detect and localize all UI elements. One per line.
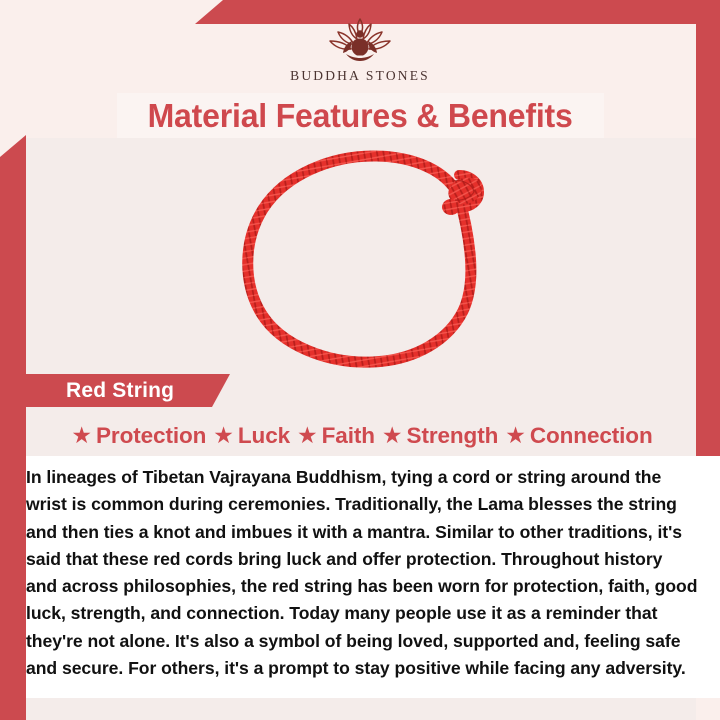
feature-label: Faith (322, 423, 375, 449)
star-icon: ★ (71, 424, 92, 447)
feature-item-faith: ★ Faith (297, 423, 375, 449)
feature-item-luck: ★ Luck (213, 423, 290, 449)
star-icon: ★ (297, 424, 318, 447)
brand-name: BUDDHA STONES (290, 68, 430, 84)
star-icon: ★ (382, 424, 403, 447)
product-label-ribbon: Red String (26, 374, 230, 407)
product-label-text: Red String (26, 379, 174, 403)
feature-item-strength: ★ Strength (382, 423, 498, 449)
infographic-page: BUDDHA STONES Material Features & Benefi… (0, 0, 720, 720)
description-text: In lineages of Tibetan Vajrayana Buddhis… (26, 464, 698, 682)
description-panel: In lineages of Tibetan Vajrayana Buddhis… (26, 456, 720, 698)
features-row: ★ Protection ★ Luck ★ Faith ★ Strength ★… (34, 419, 690, 453)
star-icon: ★ (213, 424, 234, 447)
red-braided-cord-bracelet (227, 145, 495, 371)
feature-label: Luck (238, 423, 290, 449)
feature-label: Connection (530, 423, 653, 449)
product-image-area (26, 140, 696, 375)
feature-label: Strength (407, 423, 499, 449)
page-title: Material Features & Benefits (148, 97, 573, 135)
title-banner: Material Features & Benefits (117, 93, 604, 138)
feature-item-protection: ★ Protection (71, 423, 206, 449)
lotus-meditation-figure-icon (323, 16, 397, 66)
feature-item-connection: ★ Connection (505, 423, 652, 449)
frame-band-left (0, 135, 26, 700)
star-icon: ★ (505, 424, 526, 447)
feature-label: Protection (96, 423, 206, 449)
brand-logo: BUDDHA STONES (0, 16, 720, 92)
